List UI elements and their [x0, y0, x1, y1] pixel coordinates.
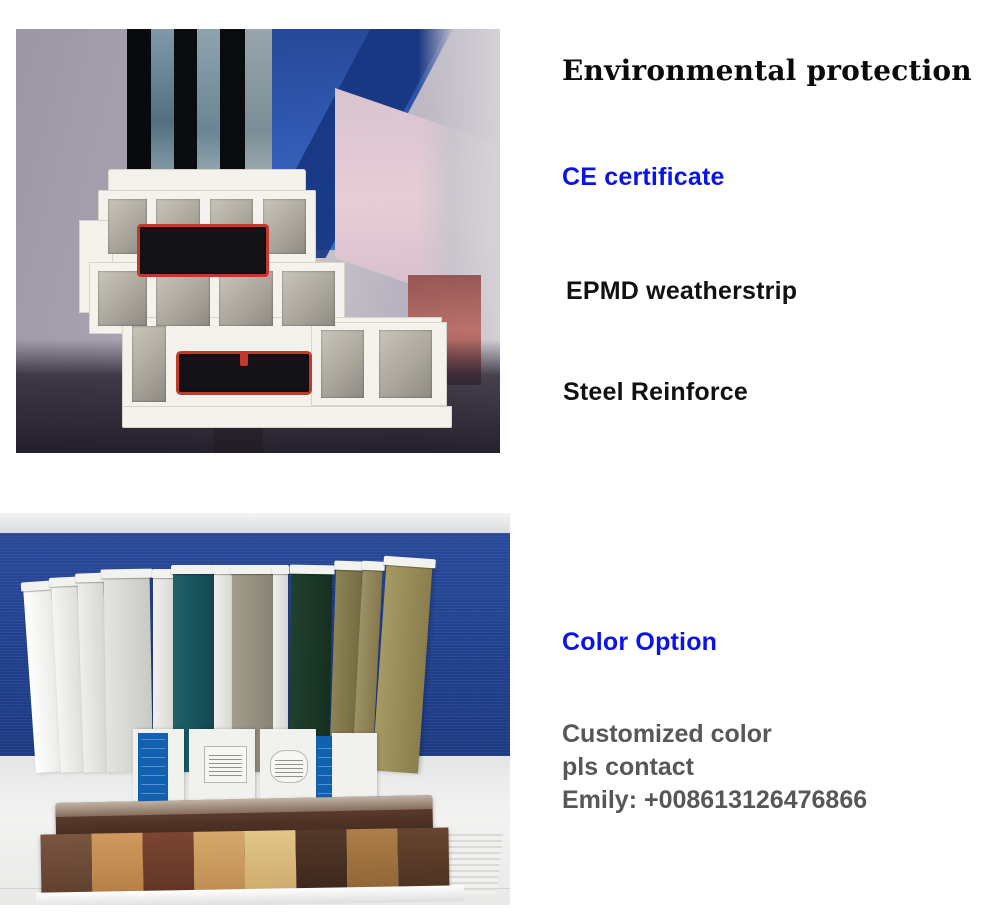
slab-cap [334, 561, 363, 571]
feature-steel-reinforce: Steel Reinforce [563, 378, 748, 407]
pvc-sill [122, 406, 451, 427]
epdm-seal-upper [137, 224, 269, 277]
slab-cap [289, 564, 335, 574]
wood-tone [142, 831, 194, 899]
contact-line-pls-contact: pls contact [562, 751, 867, 784]
feature-ce-certificate: CE certificate [562, 163, 725, 192]
slab-cap [272, 565, 289, 574]
chamber [379, 330, 432, 398]
contact-line-customized-color: Customized color [562, 718, 867, 751]
color-option-heading: Color Option [562, 628, 717, 657]
chamber [98, 271, 146, 326]
slab-cap [361, 561, 384, 571]
epdm-seal-lower [176, 351, 313, 395]
slab-cap [49, 576, 78, 586]
promo-page: Environmental protection CE certificate … [0, 0, 1000, 924]
chamber [219, 271, 272, 326]
product-label-1 [204, 746, 247, 783]
slab-cap [101, 568, 153, 578]
chamber [156, 271, 209, 326]
pvc-profile-photo [16, 29, 500, 453]
wood-tone [295, 829, 347, 897]
wood-tone [40, 833, 92, 901]
chamber [282, 271, 335, 326]
color-options-photo [0, 513, 510, 905]
feature-text-column: Environmental protection CE certificate … [558, 0, 1000, 924]
slab-cap [21, 580, 53, 591]
contact-line-emily-phone: Emily: +008613126476866 [562, 784, 867, 817]
product-label-2 [270, 750, 308, 783]
slab-cap [171, 565, 217, 574]
chamber [263, 199, 307, 254]
wood-tone [346, 828, 398, 896]
chamber [321, 330, 365, 398]
wood-tone [91, 832, 143, 900]
feature-epdm-weatherstrip: EPMD weatherstrip [566, 277, 797, 306]
contact-block: Customized color pls contact Emily: +008… [562, 718, 867, 817]
wood-tone [397, 827, 449, 895]
photo-top-strip [0, 513, 510, 533]
slab-cap [230, 565, 276, 574]
feature-environmental-protection: Environmental protection [562, 54, 972, 87]
chamber [132, 326, 166, 402]
wood-tone [193, 831, 245, 899]
wood-tone [244, 830, 296, 898]
